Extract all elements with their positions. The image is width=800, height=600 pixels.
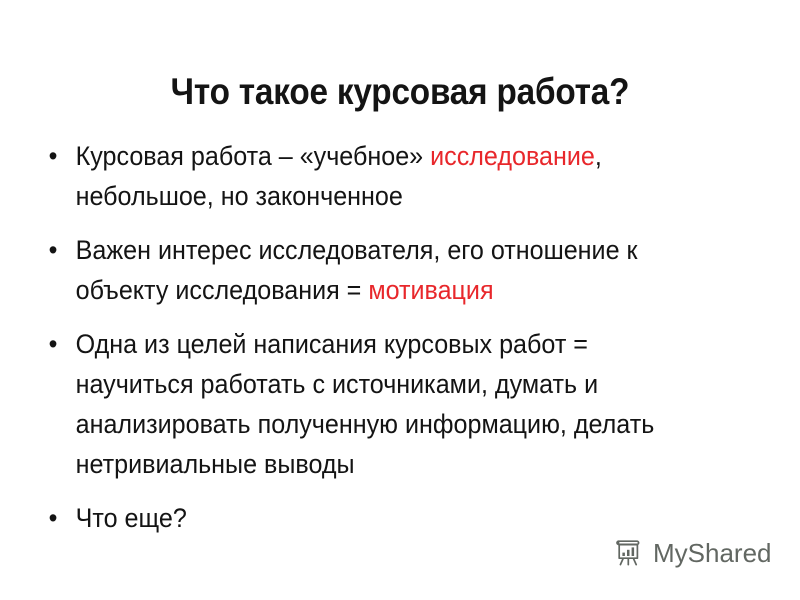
highlighted-term: исследование bbox=[430, 141, 595, 171]
list-item-text: Одна из целей написания курсовых работ =… bbox=[76, 324, 710, 484]
presentation-board-icon bbox=[612, 536, 646, 570]
text-segment: Что еще? bbox=[76, 503, 187, 533]
highlighted-term: мотивация bbox=[368, 275, 493, 305]
list-item-text: Курсовая работа – «учебное» исследование… bbox=[76, 136, 710, 216]
slide-canvas: Что такое курсовая работа? • Курсовая ра… bbox=[0, 0, 800, 600]
list-item-text: Важен интерес исследователя, его отношен… bbox=[76, 230, 710, 310]
bullet-marker-icon: • bbox=[49, 230, 66, 270]
text-segment: Одна из целей написания курсовых работ =… bbox=[76, 329, 655, 479]
list-item: • Важен интерес исследователя, его отнош… bbox=[44, 230, 710, 310]
bullet-list: • Курсовая работа – «учебное» исследован… bbox=[44, 136, 760, 538]
myshared-watermark: MyShared bbox=[612, 536, 772, 570]
bullet-marker-icon: • bbox=[49, 324, 66, 364]
bullet-marker-icon: • bbox=[49, 498, 66, 538]
list-item: • Что еще? bbox=[44, 498, 710, 538]
page-title: Что такое курсовая работа? bbox=[40, 69, 760, 115]
bullet-marker-icon: • bbox=[49, 136, 66, 176]
text-segment: Курсовая работа – «учебное» bbox=[76, 141, 431, 171]
myshared-label: MyShared bbox=[653, 538, 772, 568]
list-item: • Курсовая работа – «учебное» исследован… bbox=[44, 136, 710, 216]
list-item-text: Что еще? bbox=[76, 498, 710, 538]
list-item: • Одна из целей написания курсовых работ… bbox=[44, 324, 710, 484]
text-segment: Важен интерес исследователя, его отношен… bbox=[76, 235, 638, 305]
